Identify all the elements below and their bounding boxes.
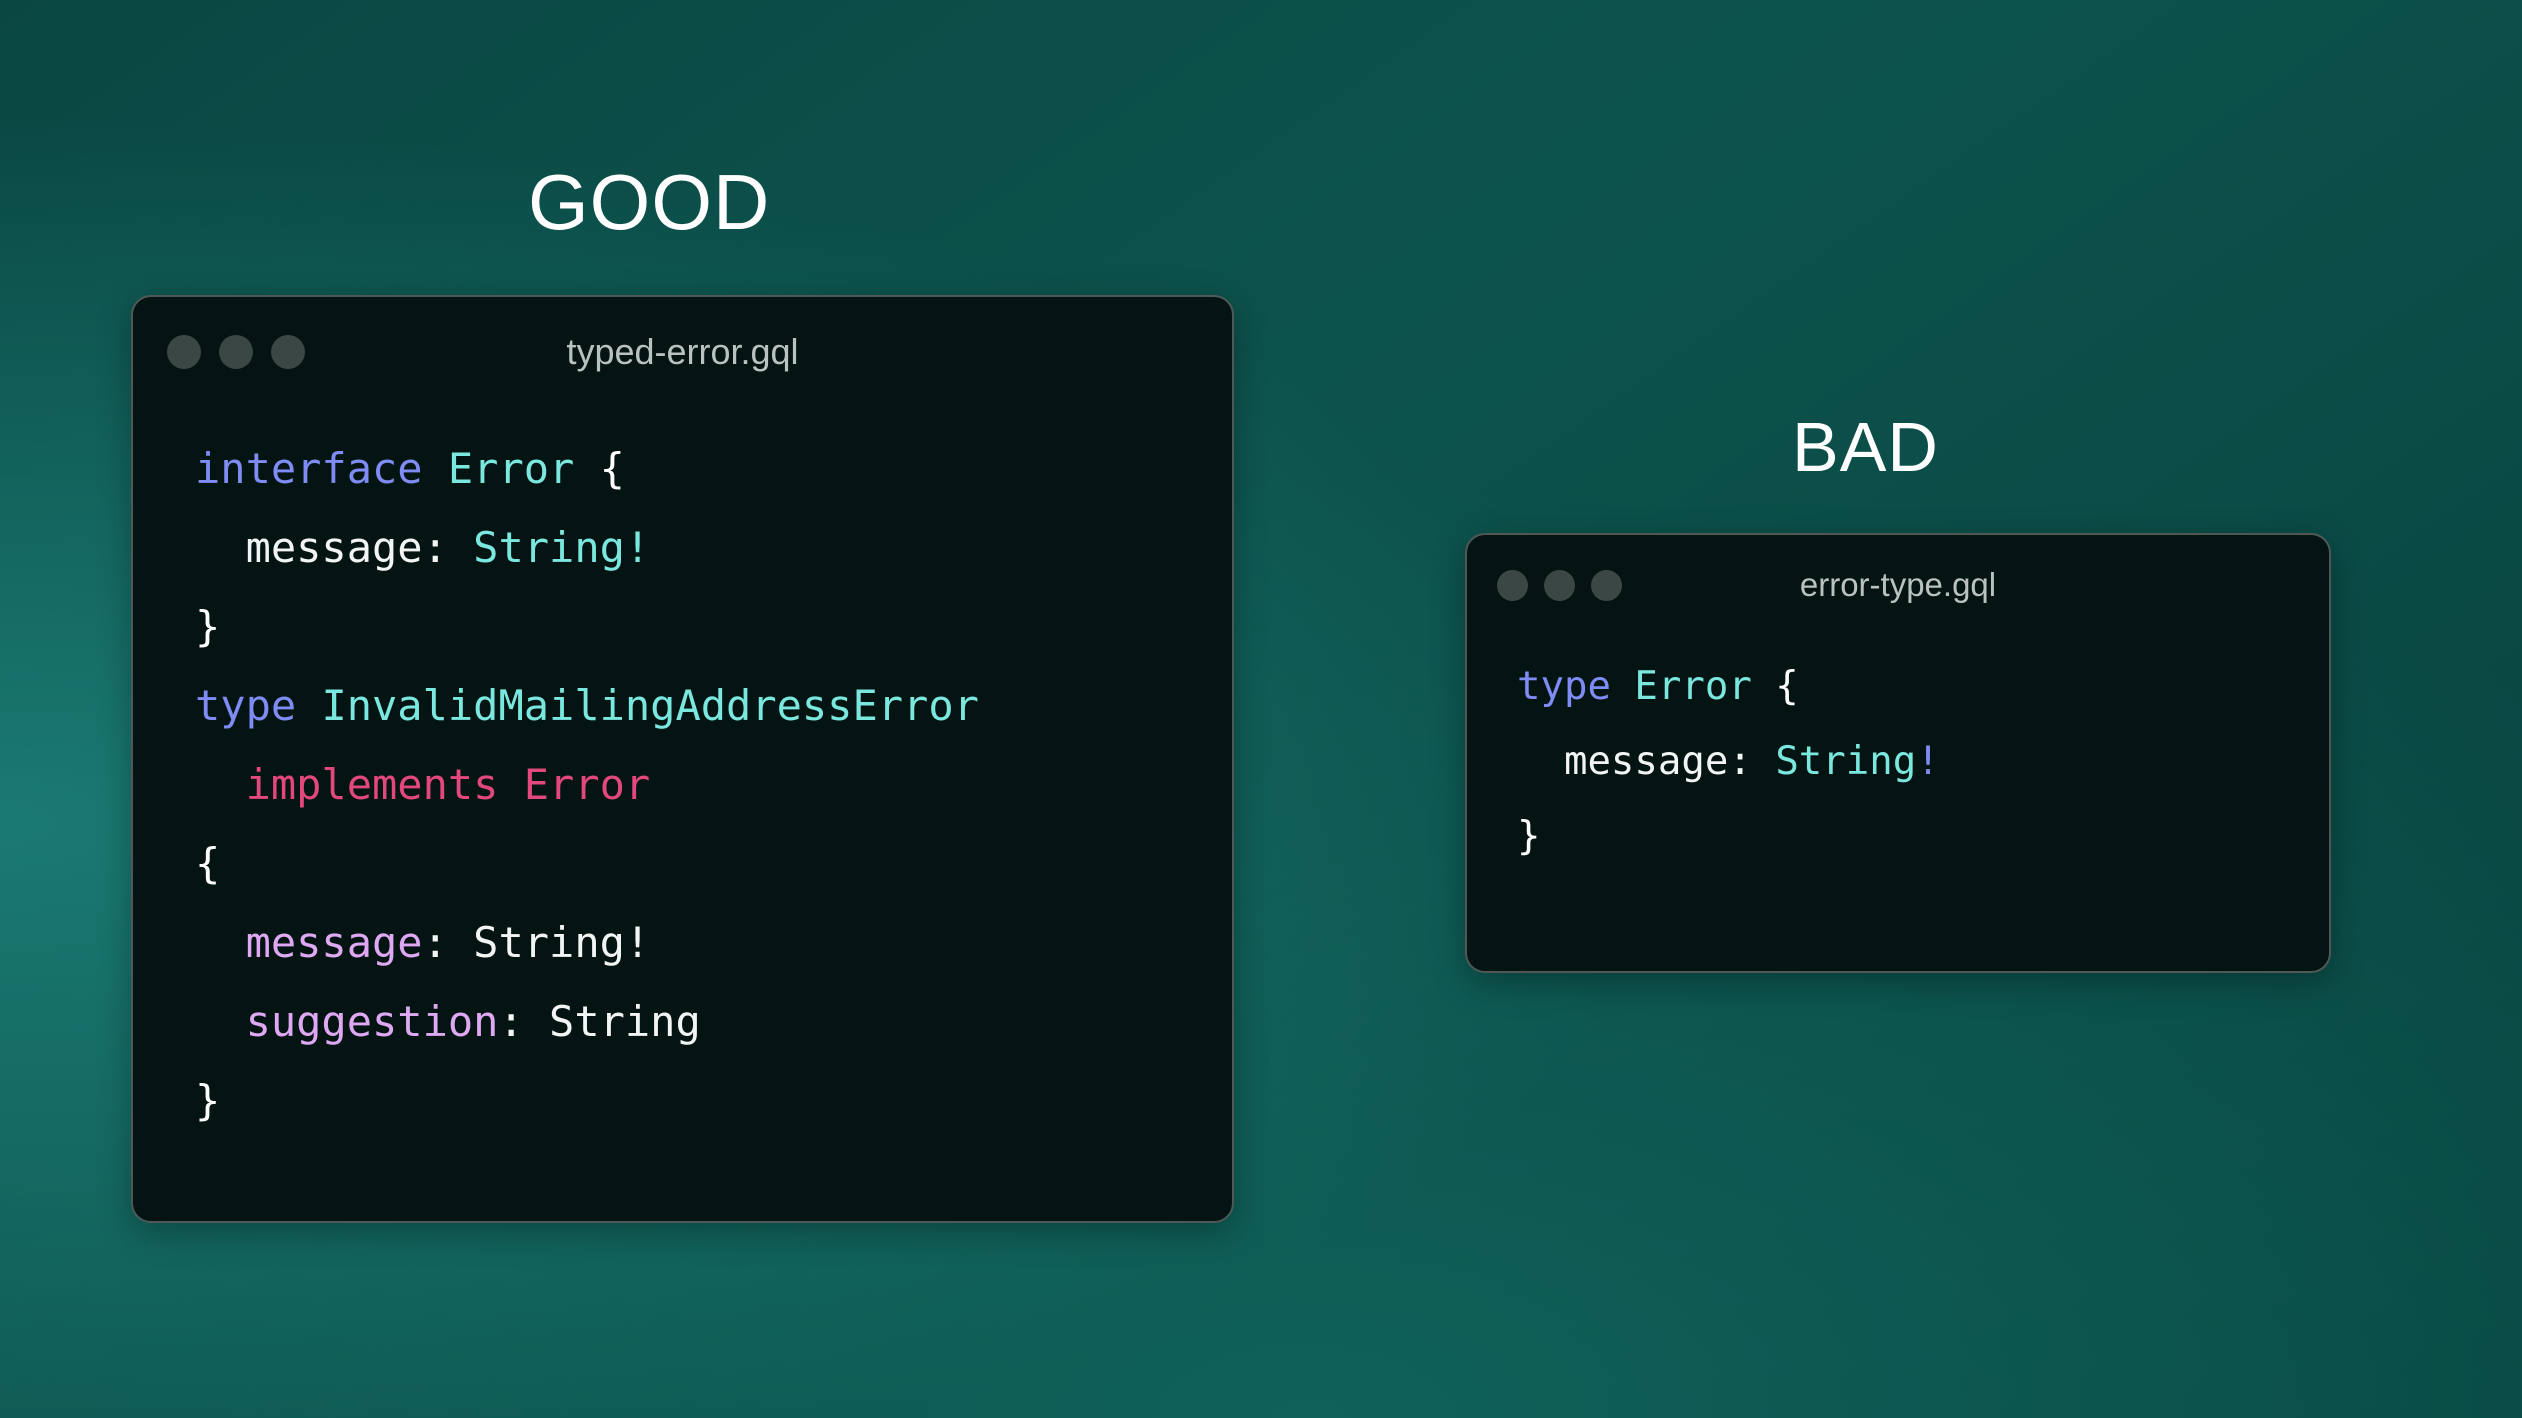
code-token: Error bbox=[448, 444, 574, 493]
close-dot-icon[interactable] bbox=[1497, 570, 1528, 601]
code-line: message: String! bbox=[1517, 724, 2329, 799]
code-token: InvalidMailingAddressError bbox=[321, 681, 978, 730]
bad-example-label: BAD bbox=[1792, 412, 1939, 482]
code-token bbox=[1517, 739, 1564, 784]
maximize-dot-icon[interactable] bbox=[271, 335, 305, 369]
code-token: String! bbox=[473, 918, 650, 967]
code-token: } bbox=[1517, 814, 1540, 859]
code-token: suggestion bbox=[246, 997, 499, 1046]
code-token bbox=[195, 918, 246, 967]
code-token: { bbox=[1775, 664, 1798, 709]
code-token: message bbox=[1564, 739, 1728, 784]
code-token: String! bbox=[473, 523, 650, 572]
code-token bbox=[195, 760, 246, 809]
code-token: : bbox=[1728, 739, 1775, 784]
code-line: type InvalidMailingAddressError bbox=[195, 666, 1232, 745]
code-content-good: interface Error { message: String!}type … bbox=[133, 407, 1232, 1140]
code-token: implements Error bbox=[246, 760, 651, 809]
code-token bbox=[195, 997, 246, 1046]
code-line: { bbox=[195, 824, 1232, 903]
code-line: suggestion: String bbox=[195, 982, 1232, 1061]
code-token: interface bbox=[195, 444, 423, 493]
titlebar-good: typed-error.gql bbox=[133, 297, 1232, 407]
good-example-label: GOOD bbox=[528, 163, 770, 241]
code-line: message: String! bbox=[195, 508, 1232, 587]
code-token bbox=[1752, 664, 1775, 709]
code-line: interface Error { bbox=[195, 429, 1232, 508]
code-line: message: String! bbox=[195, 903, 1232, 982]
code-line: } bbox=[1517, 799, 2329, 874]
code-token: type bbox=[1517, 664, 1611, 709]
code-token bbox=[296, 681, 321, 730]
close-dot-icon[interactable] bbox=[167, 335, 201, 369]
code-line: } bbox=[195, 587, 1232, 666]
titlebar-bad: error-type.gql bbox=[1467, 535, 2329, 635]
code-token: ! bbox=[1916, 739, 1939, 784]
code-token bbox=[195, 523, 246, 572]
traffic-lights-bad bbox=[1497, 570, 1622, 601]
code-token: { bbox=[600, 444, 625, 493]
code-window-bad: error-type.gql type Error { message: Str… bbox=[1465, 533, 2331, 973]
code-token: String bbox=[549, 997, 701, 1046]
code-line: } bbox=[195, 1061, 1232, 1140]
code-token: { bbox=[195, 839, 220, 888]
slide-canvas: GOOD typed-error.gql interface Error { m… bbox=[0, 0, 2522, 1418]
code-token bbox=[1611, 664, 1634, 709]
traffic-lights-good bbox=[167, 335, 305, 369]
maximize-dot-icon[interactable] bbox=[1591, 570, 1622, 601]
code-content-bad: type Error { message: String!} bbox=[1467, 635, 2329, 874]
code-token: String bbox=[1775, 739, 1916, 784]
code-line: implements Error bbox=[195, 745, 1232, 824]
code-window-good: typed-error.gql interface Error { messag… bbox=[131, 295, 1234, 1223]
code-token: message bbox=[246, 523, 423, 572]
code-token bbox=[574, 444, 599, 493]
code-token: : bbox=[498, 997, 549, 1046]
code-token: } bbox=[195, 1076, 220, 1125]
code-token: : bbox=[423, 523, 474, 572]
code-token: : bbox=[423, 918, 474, 967]
code-token: type bbox=[195, 681, 296, 730]
code-line: type Error { bbox=[1517, 649, 2329, 724]
minimize-dot-icon[interactable] bbox=[219, 335, 253, 369]
code-token: Error bbox=[1634, 664, 1751, 709]
code-token bbox=[423, 444, 448, 493]
minimize-dot-icon[interactable] bbox=[1544, 570, 1575, 601]
code-token: } bbox=[195, 602, 220, 651]
code-token: message bbox=[246, 918, 423, 967]
